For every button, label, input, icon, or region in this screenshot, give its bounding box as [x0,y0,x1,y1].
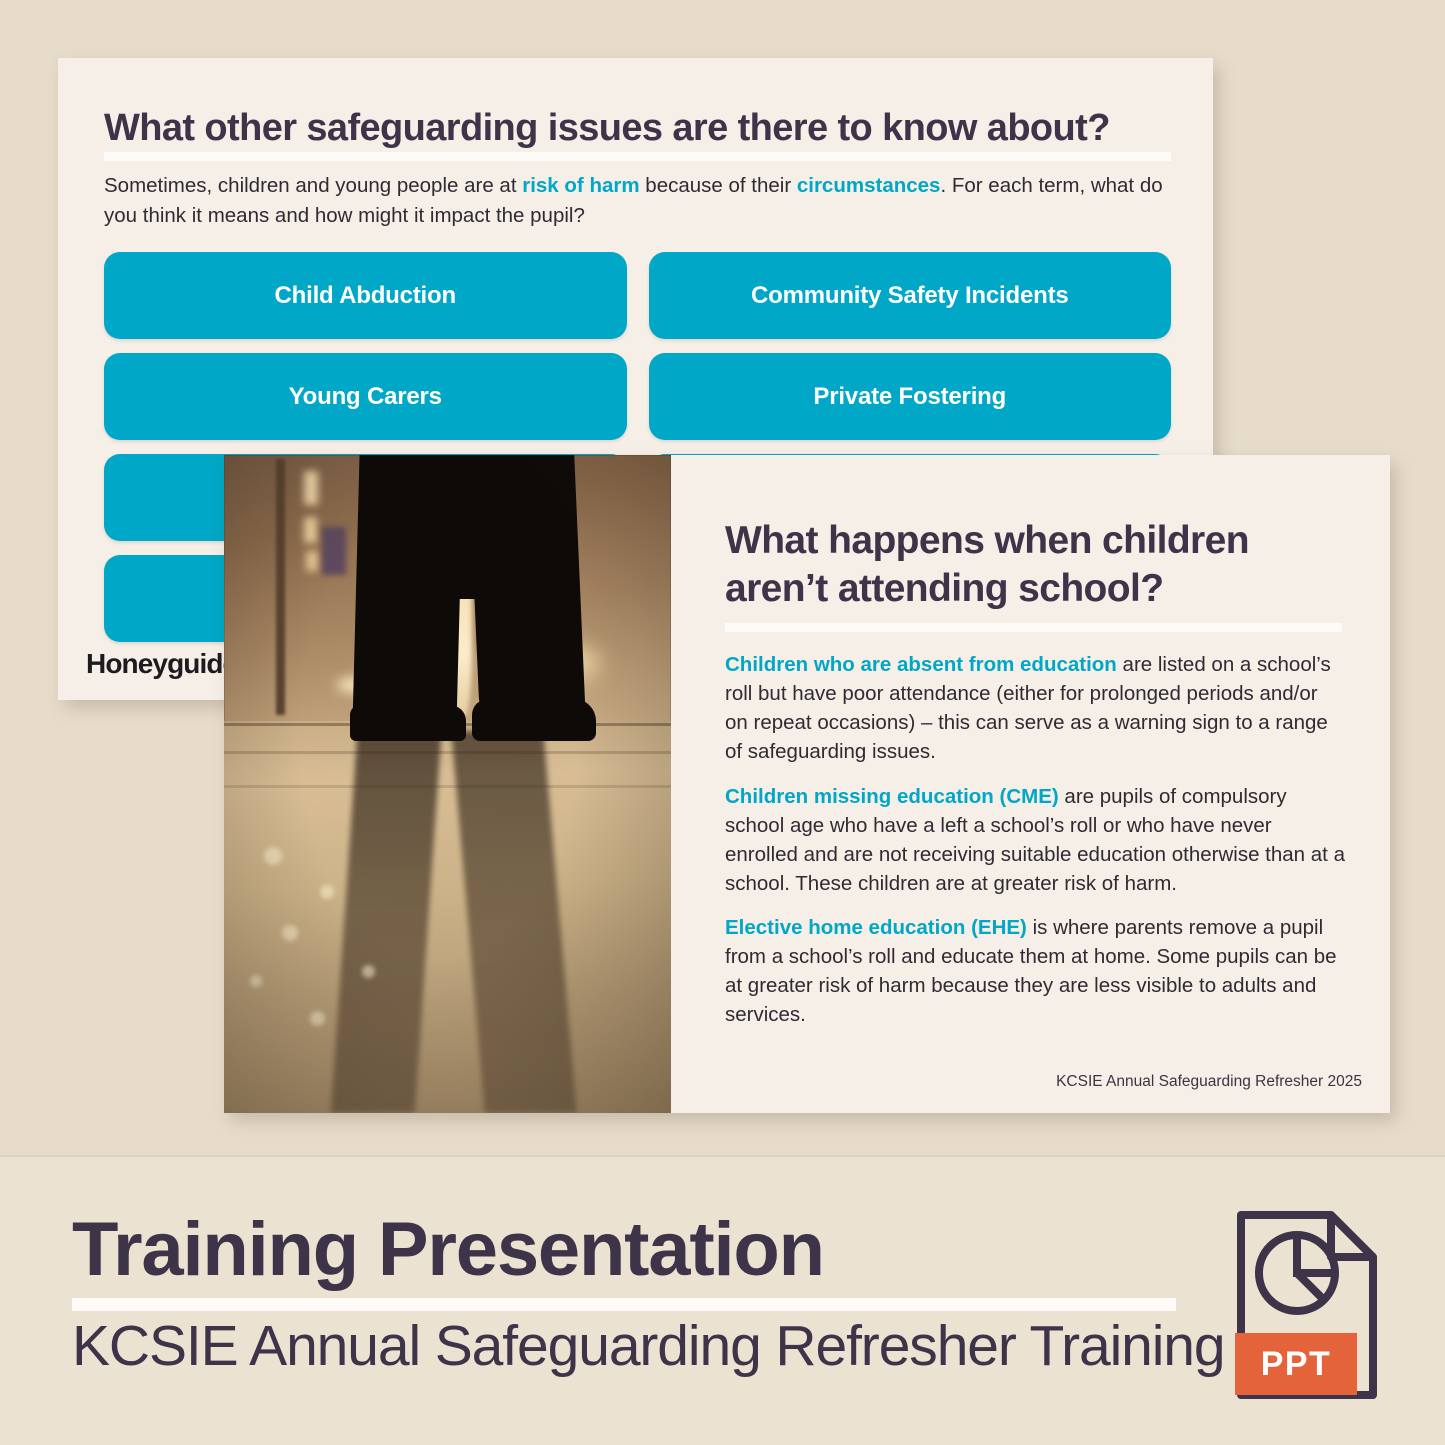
topic-pill-community-safety-incidents[interactable]: Community Safety Incidents [649,252,1172,339]
paragraph-lead-ehe: Elective home education (EHE) [725,916,1027,939]
photo-vignette [224,455,671,1113]
slide2-paragraph-cme: Children missing education (CME) are pup… [725,782,1346,898]
banner-subtitle: KCSIE Annual Safeguarding Refresher Trai… [72,1317,1202,1377]
ppt-badge: PPT [1235,1333,1357,1395]
slide1-intro-paragraph: Sometimes, children and young people are… [104,171,1164,230]
ppt-document-icon: PPT [1227,1205,1387,1405]
banner-text-block: Training Presentation KCSIE Annual Safeg… [72,1212,1202,1377]
intro-text-part2: because of their [640,174,797,197]
banner-title: Training Presentation [72,1212,1202,1288]
intro-text-part1: Sometimes, children and young people are… [104,174,522,197]
slide2-content: What happens when children aren’t attend… [671,455,1390,1113]
paragraph-lead-absent: Children who are absent from education [725,653,1117,676]
banner-rule [72,1298,1176,1311]
slide2-photo [224,455,671,1113]
slide1-title: What other safeguarding issues are there… [104,107,1110,150]
slide2-title: What happens when children aren’t attend… [725,517,1346,612]
slide2-title-rule [725,623,1342,632]
slide-card-2[interactable]: What happens when children aren’t attend… [224,455,1390,1113]
preview-canvas: What other safeguarding issues are there… [0,0,1445,1445]
topic-pill-private-fostering[interactable]: Private Fostering [649,353,1172,440]
slide1-title-rule [104,152,1171,161]
slide2-footer-label: KCSIE Annual Safeguarding Refresher 2025 [1056,1073,1362,1091]
honeyguide-logo: Honeyguide [86,648,237,680]
paragraph-lead-cme: Children missing education (CME) [725,785,1059,808]
topic-pill-young-carers[interactable]: Young Carers [104,353,627,440]
slide2-paragraph-ehe: Elective home education (EHE) is where p… [725,913,1346,1029]
topic-pill-child-abduction[interactable]: Child Abduction [104,252,627,339]
intro-highlight-risk-of-harm: risk of harm [522,174,639,197]
slide2-paragraph-absent-from-education: Children who are absent from education a… [725,650,1346,766]
resource-banner: Training Presentation KCSIE Annual Safeg… [0,1155,1445,1445]
intro-highlight-circumstances: circumstances [797,174,941,197]
